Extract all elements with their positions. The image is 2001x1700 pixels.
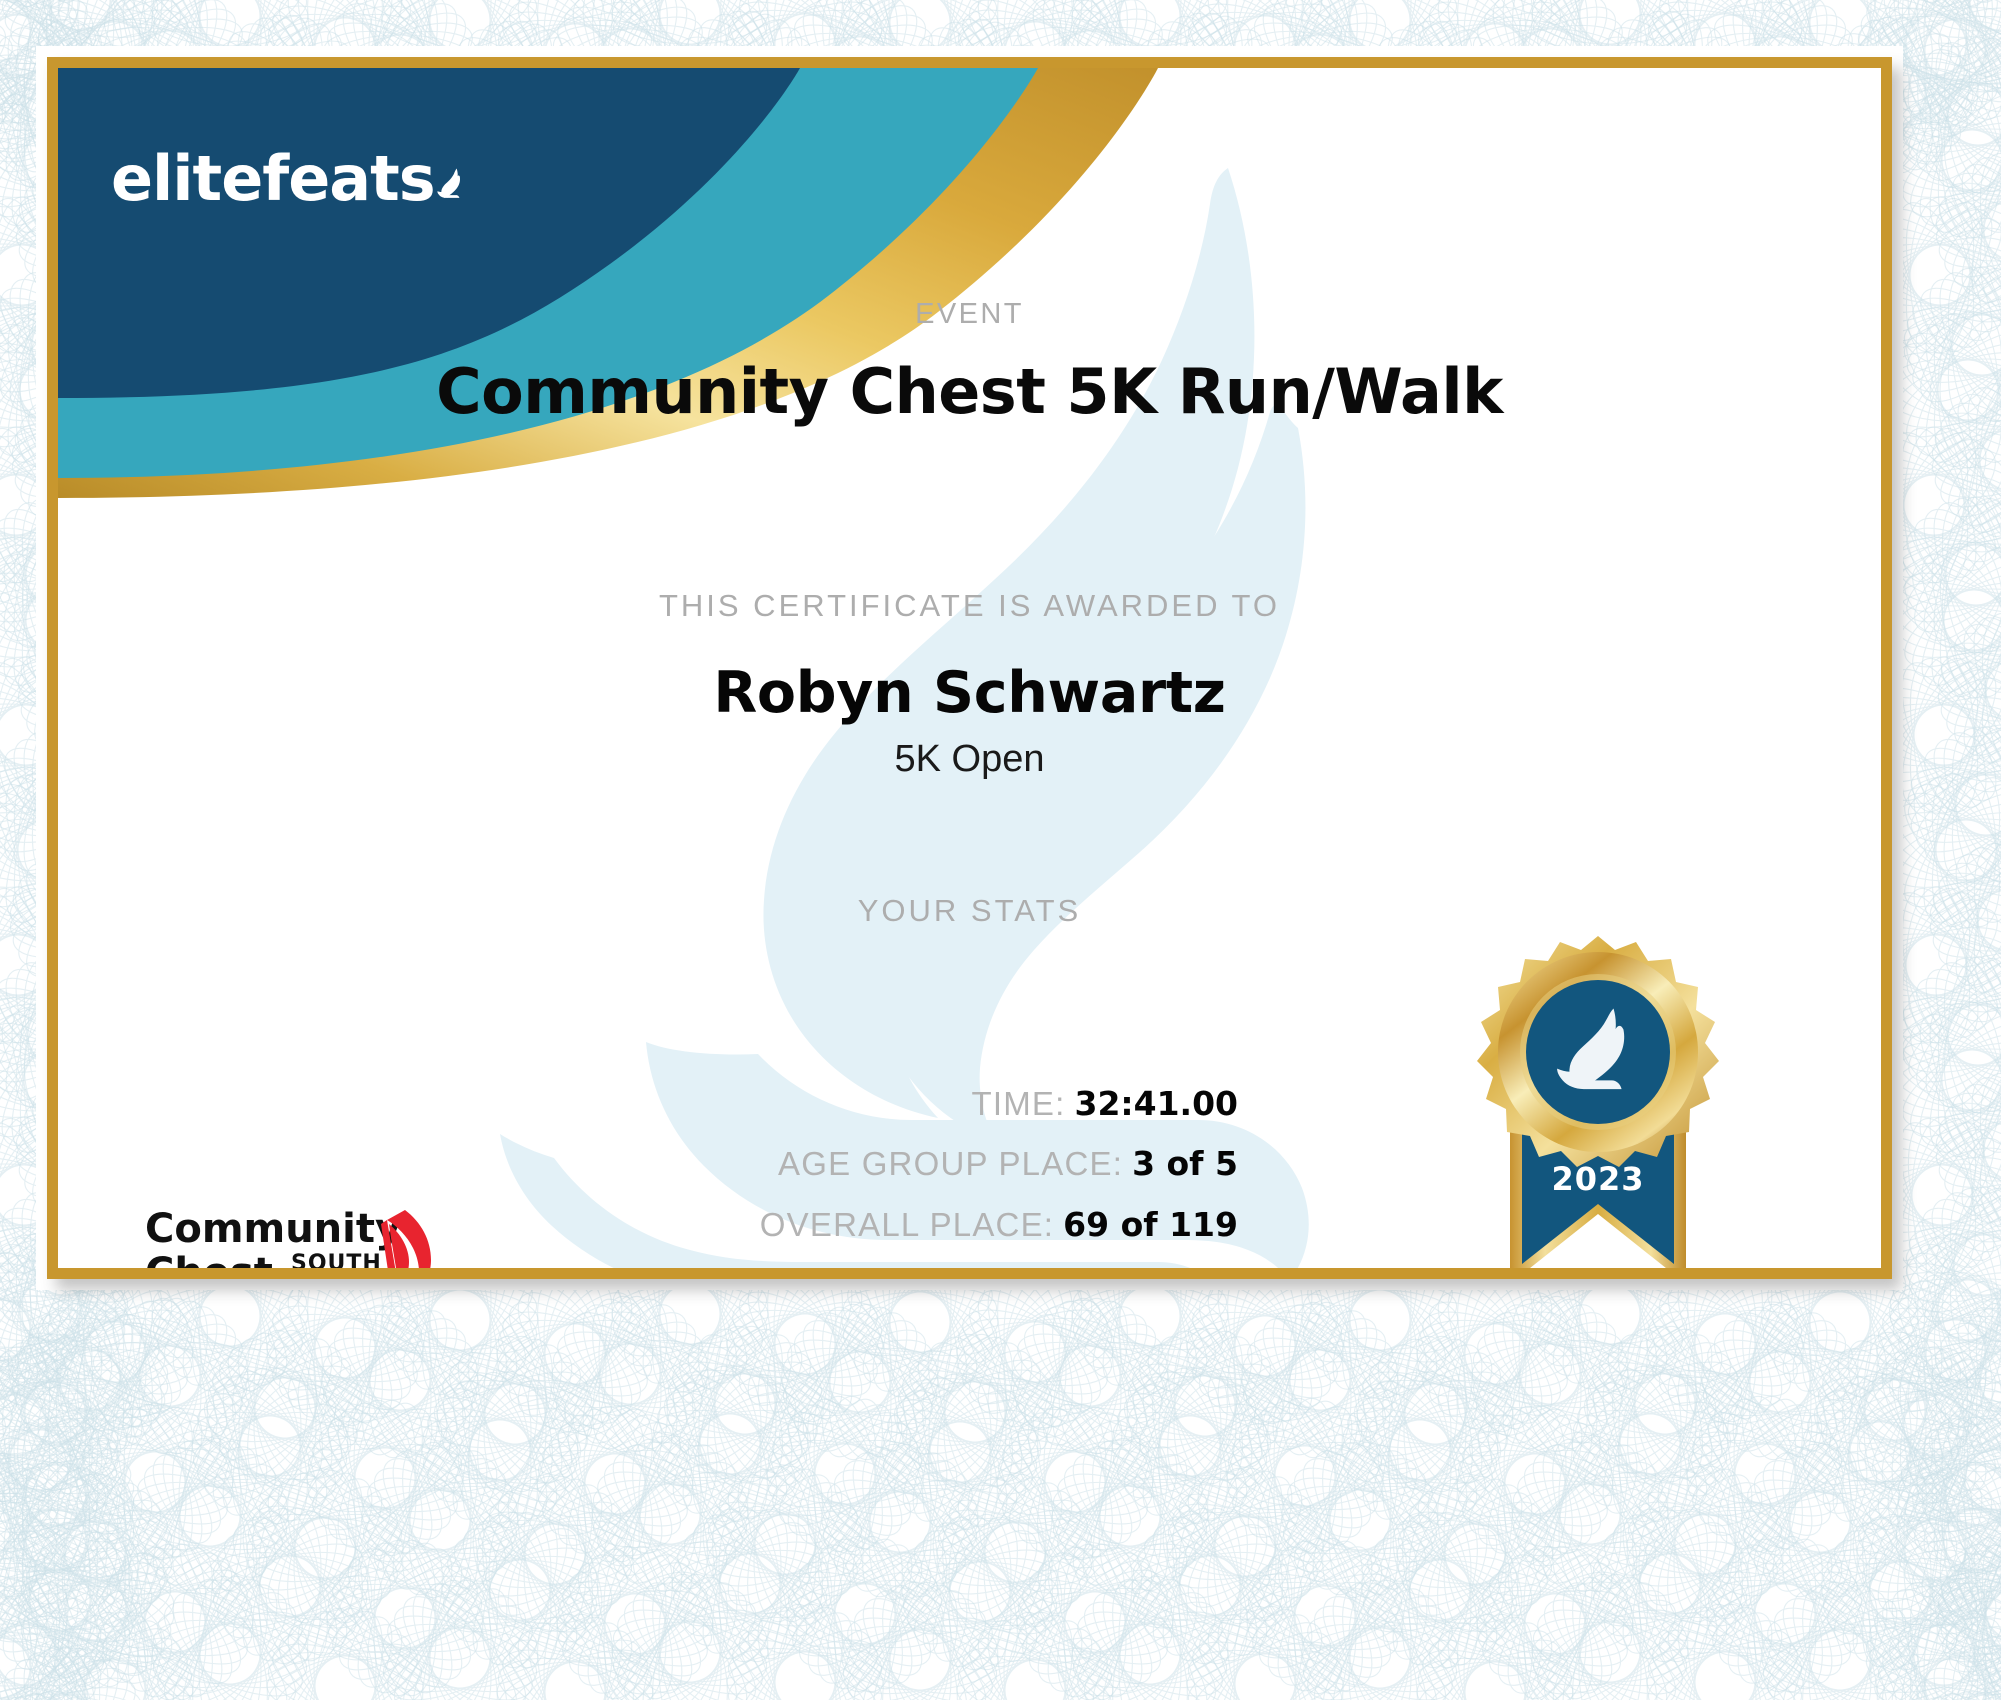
stat-value: 32:41.00 <box>1074 1084 1238 1123</box>
stat-label: OVERALL PLACE: <box>760 1206 1054 1243</box>
medal-year: 2023 <box>1551 1160 1644 1198</box>
finisher-medal-badge: 2023 FIN <box>1448 928 1748 1268</box>
gold-frame-border: elitefeats EVENT Community Chest 5K Run/… <box>47 57 1892 1279</box>
event-label: EVENT <box>58 298 1881 331</box>
winged-foot-icon <box>437 144 461 222</box>
stat-value: 28 of 55 <box>1086 1265 1238 1268</box>
sponsor-line2: Chest <box>145 1250 273 1268</box>
community-chest-sponsor-logo: Community Chest SOUTH SHORE Neighbors He… <box>143 1198 443 1268</box>
stat-label: AGE GROUP PLACE: <box>778 1145 1123 1182</box>
elitefeats-wordmark: elitefeats <box>111 148 435 210</box>
certificate-center-column: EVENT Community Chest 5K Run/Walk THIS C… <box>58 298 1881 929</box>
stat-row-age-group-place: AGE GROUP PLACE:3 of 5 <box>58 1146 1238 1182</box>
sponsor-line1: Community <box>145 1206 401 1252</box>
certificate-body: elitefeats EVENT Community Chest 5K Run/… <box>58 68 1881 1268</box>
recipient-name: Robyn Schwartz <box>58 660 1881 726</box>
your-stats-label: YOUR STATS <box>58 893 1881 929</box>
division-label: 5K Open <box>58 738 1881 781</box>
stat-value: 3 of 5 <box>1132 1144 1238 1183</box>
certificate-paper: elitefeats EVENT Community Chest 5K Run/… <box>0 0 2001 1700</box>
elitefeats-logo: elitefeats <box>111 126 461 231</box>
stat-value: 69 of 119 <box>1063 1205 1238 1244</box>
stat-label: GENDER PLACE: <box>794 1266 1077 1268</box>
awarded-to-label: THIS CERTIFICATE IS AWARDED TO <box>58 588 1881 624</box>
sponsor-sub1: SOUTH <box>291 1251 382 1268</box>
stat-label: TIME: <box>971 1085 1065 1122</box>
event-title: Community Chest 5K Run/Walk <box>58 355 1881 428</box>
stat-row-time: TIME:32:41.00 <box>58 1086 1238 1122</box>
